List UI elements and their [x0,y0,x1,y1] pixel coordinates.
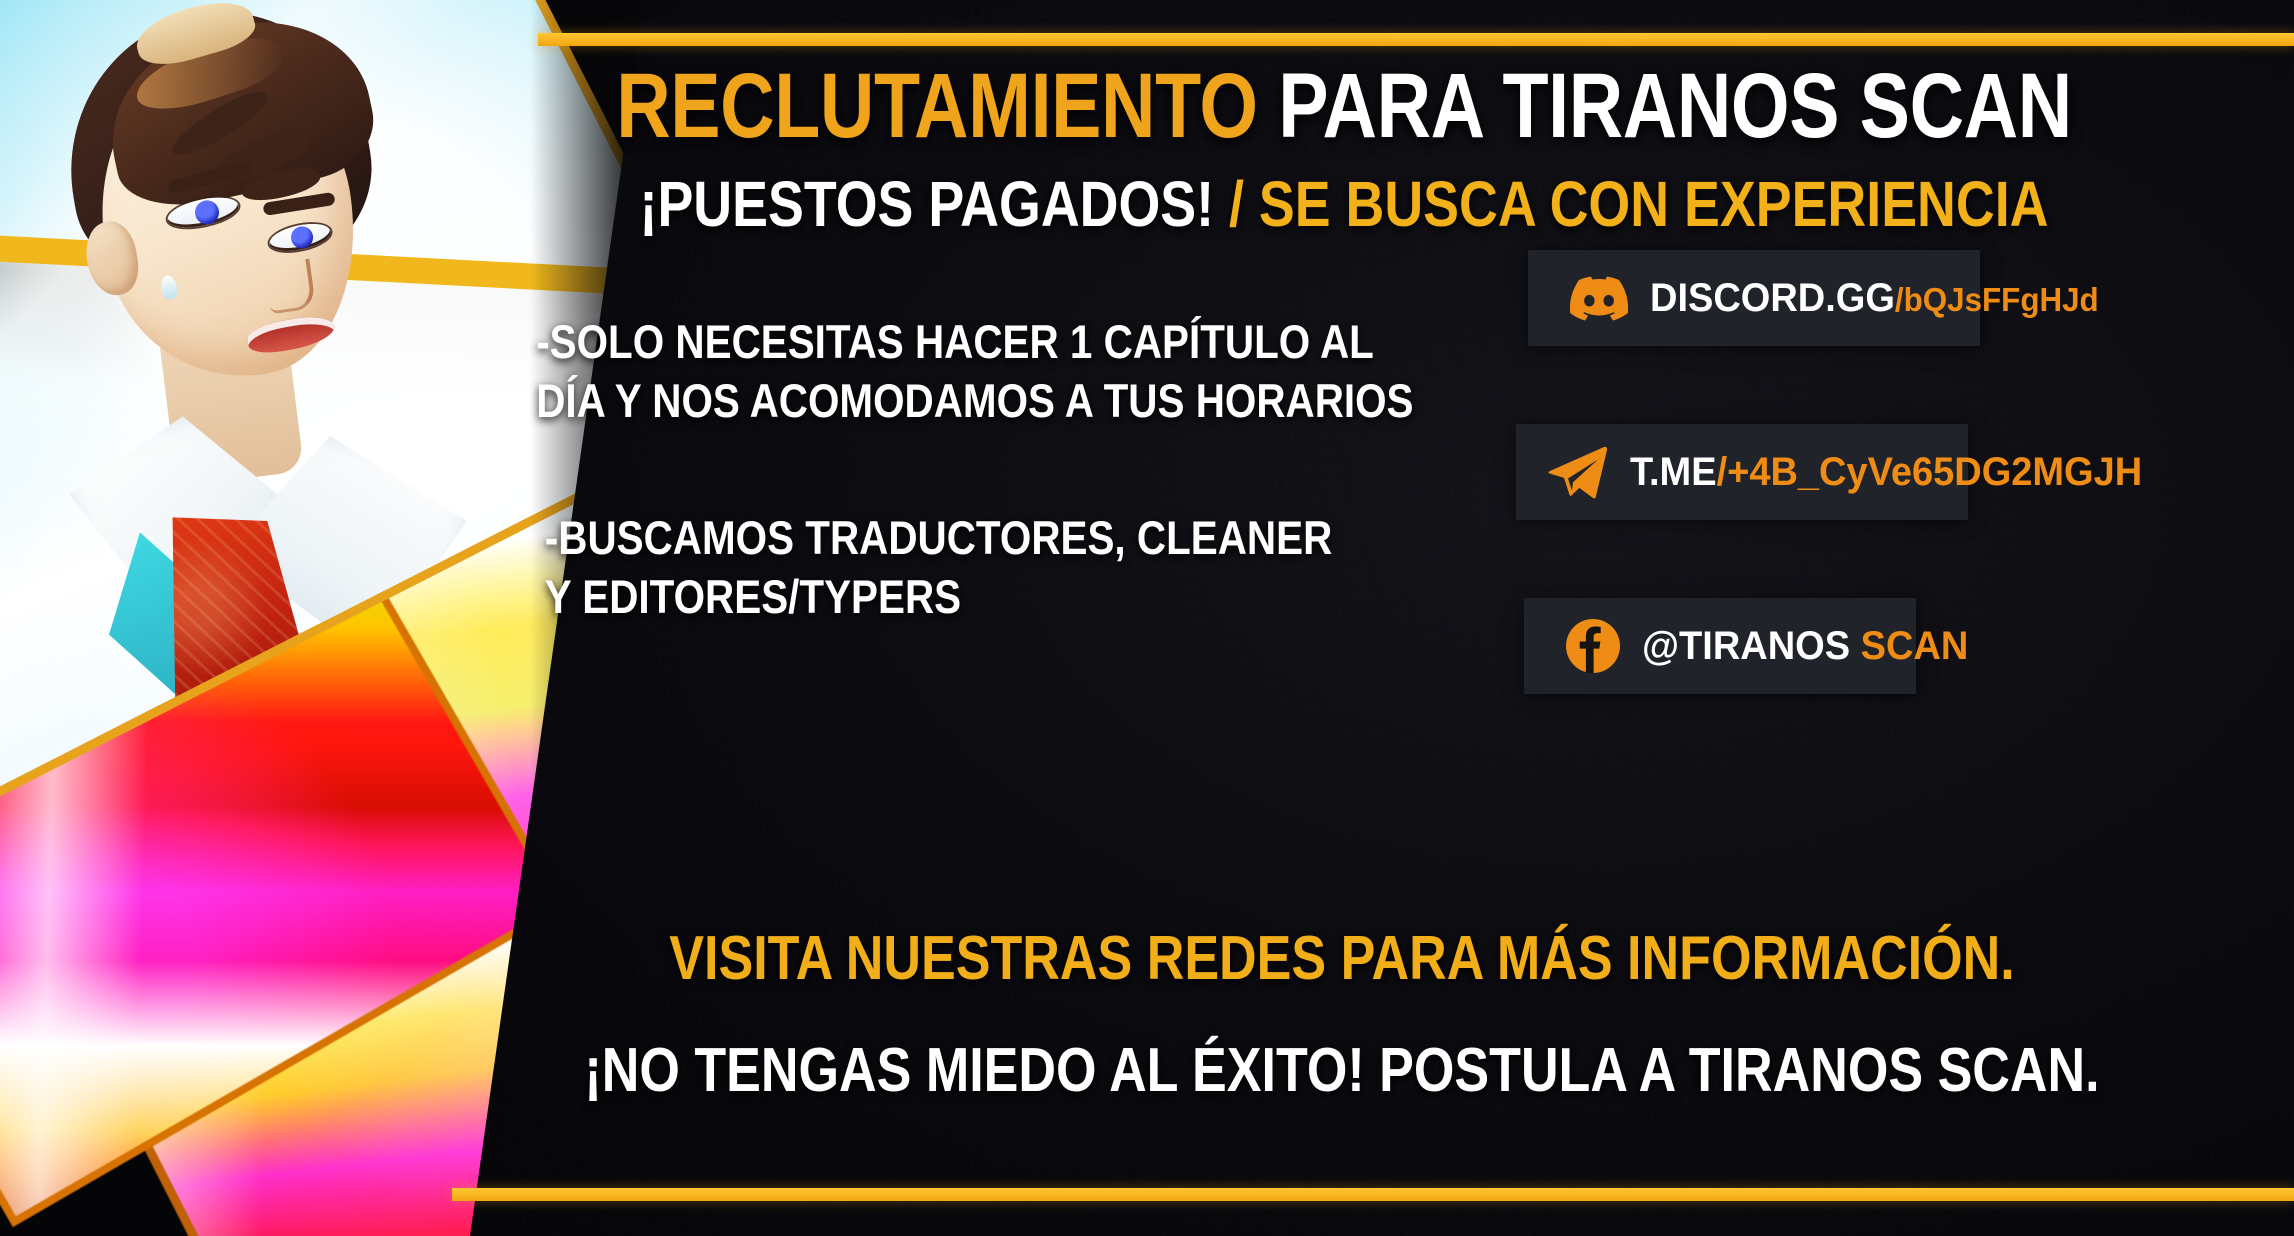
headline: RECLUTAMIENTO PARA TIRANOS SCAN [595,60,2094,152]
requirement-line-2: DÍA Y NOS ACOMODAMOS A TUS HORARIOS [536,371,1104,430]
facebook-handle-suffix: SCAN [1850,624,1968,668]
character-iris [291,226,313,248]
footer-line-2: ¡NO TENGAS MIEDO AL ÉXITO! POSTULA A TIR… [576,1040,2108,1102]
telegram-icon [1546,445,1608,499]
facebook-icon [1566,619,1620,673]
character-iris [195,200,219,224]
character-illustration [15,0,485,639]
footer-line-1: VISITA NUESTRAS REDES PARA MÁS INFORMACI… [576,928,2108,990]
discord-label: DISCORD.GG/bQJsFFgHJd [1650,276,2099,321]
contact-card-list: DISCORD.GG/bQJsFFgHJd T.ME/+4B_CyVe65DG2… [1528,250,1980,694]
contact-card-discord[interactable]: DISCORD.GG/bQJsFFgHJd [1528,250,1980,346]
discord-domain: DISCORD.GG [1650,276,1895,320]
roles-block: -BUSCAMOS TRADUCTORES, CLEANER Y EDITORE… [536,508,1104,626]
discord-icon [1570,276,1628,321]
roles-line-2: Y EDITORES/TYPERS [545,567,1104,626]
facebook-label: @TIRANOS SCAN [1642,624,1968,669]
discord-invite-code: /bQJsFFgHJd [1895,281,2099,318]
roles-line-1: -BUSCAMOS TRADUCTORES, CLEANER [545,508,1104,567]
requirement-block: -SOLO NECESITAS HACER 1 CAPÍTULO AL DÍA … [536,312,1104,430]
subheadline-gold: / SE BUSCA CON EXPERIENCIA [1214,168,2048,240]
requirement-line-1: -SOLO NECESITAS HACER 1 CAPÍTULO AL [536,312,1104,371]
contact-card-facebook[interactable]: @TIRANOS SCAN [1524,598,1916,694]
subheadline: ¡PUESTOS PAGADOS! / SE BUSCA CON EXPERIE… [576,172,2112,236]
contact-card-telegram[interactable]: T.ME/+4B_CyVe65DG2MGJH [1516,424,1968,520]
headline-rest: PARA TIRANOS SCAN [1258,55,2072,157]
headline-highlight: RECLUTAMIENTO [616,55,1257,157]
telegram-invite-code: /+4B_CyVe65DG2MGJH [1717,450,2143,494]
recruitment-banner: RECLUTAMIENTO PARA TIRANOS SCAN ¡PUESTOS… [0,0,2294,1236]
telegram-domain: T.ME [1630,450,1717,494]
facebook-handle: @TIRANOS [1642,624,1850,668]
banner-content: RECLUTAMIENTO PARA TIRANOS SCAN ¡PUESTOS… [430,0,2294,1236]
telegram-label: T.ME/+4B_CyVe65DG2MGJH [1630,450,2142,495]
subheadline-white: ¡PUESTOS PAGADOS! [640,168,1215,240]
